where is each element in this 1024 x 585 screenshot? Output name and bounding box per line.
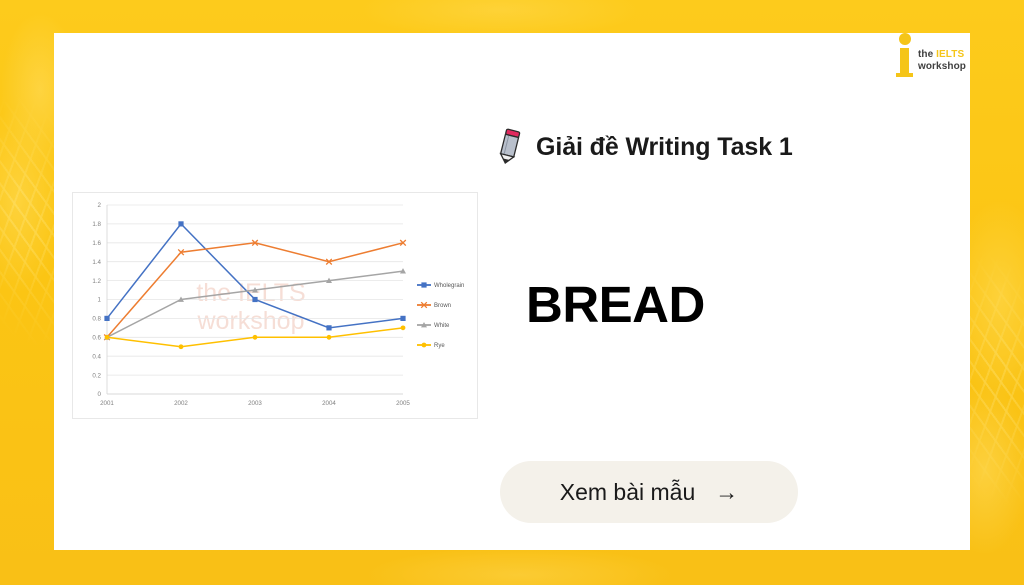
logo-line-one: the IELTS <box>918 49 966 61</box>
chart-x-tick-label: 2005 <box>396 400 410 407</box>
legend-marker <box>422 343 427 348</box>
legend-marker <box>421 282 426 287</box>
arrow-right-icon: → <box>715 479 738 506</box>
chart-data-point <box>179 344 184 349</box>
chart-y-tick-label: 1.6 <box>92 240 101 247</box>
chart-x-tick-label: 2003 <box>248 400 262 407</box>
chart-y-tick-label: 1.4 <box>92 259 101 266</box>
chart-y-tick-label: 0.2 <box>92 372 101 379</box>
legend-label: Wholegrain <box>434 283 464 289</box>
chart-watermark-line-one: the IELTS <box>196 279 305 307</box>
logo-wordmark: the IELTS workshop <box>918 49 966 77</box>
logo-the: the <box>918 49 936 60</box>
logo-line-two: workshop <box>918 61 966 73</box>
chart-legend: WholegrainBrownWhiteRye <box>417 282 464 349</box>
view-sample-button[interactable]: Xem bài mẫu → <box>500 461 798 523</box>
chart-y-tick-label: 0.8 <box>92 316 101 323</box>
chart-y-tick-label: 1 <box>98 297 102 304</box>
lowercase-i-icon <box>896 33 913 77</box>
chart-y-tick-label: 1.8 <box>92 221 101 228</box>
chart-data-point <box>253 335 258 340</box>
chart-x-tick-label: 2002 <box>174 400 188 407</box>
chart-y-axis-labels: 00.20.40.60.811.21.41.61.82 <box>92 202 101 398</box>
topic-word: BREAD <box>526 279 705 330</box>
chart-data-point <box>401 325 406 330</box>
chart-canvas: the IELTS workshop 00.20.40.60.811.21.41… <box>73 193 478 419</box>
chart-watermark-line-two: workshop <box>197 307 305 335</box>
logo-stem <box>900 48 909 74</box>
logo-dot <box>899 33 911 45</box>
brand-logo: the IELTS workshop <box>896 33 966 77</box>
pencil-icon <box>494 128 524 166</box>
chart-y-tick-label: 0.6 <box>92 335 101 342</box>
heading-label: Giải đề Writing Task 1 <box>536 133 793 162</box>
page-heading: Giải đề Writing Task 1 <box>494 128 793 166</box>
chart-x-tick-label: 2004 <box>322 400 336 407</box>
chart-data-point <box>252 297 257 302</box>
chart-y-tick-label: 0.4 <box>92 353 101 360</box>
chart-y-tick-label: 2 <box>98 202 102 209</box>
cta-label: Xem bài mẫu <box>560 479 696 506</box>
legend-label: Brown <box>434 303 451 309</box>
logo-ielts: IELTS <box>936 49 964 60</box>
chart-data-point <box>105 335 110 340</box>
chart-x-tick-label: 2001 <box>100 400 114 407</box>
legend-label: White <box>434 323 450 329</box>
chart-y-tick-label: 0 <box>98 391 102 398</box>
chart-data-point <box>326 325 331 330</box>
logo-foot <box>896 73 913 77</box>
line-chart: the IELTS workshop 00.20.40.60.811.21.41… <box>72 192 478 419</box>
legend-label: Rye <box>434 343 445 349</box>
chart-data-point <box>327 335 332 340</box>
chart-data-point <box>400 316 405 321</box>
chart-x-axis-labels: 20012002200320042005 <box>100 400 410 407</box>
chart-data-point <box>104 316 109 321</box>
chart-y-tick-label: 1.2 <box>92 278 101 285</box>
chart-data-point <box>178 221 183 226</box>
